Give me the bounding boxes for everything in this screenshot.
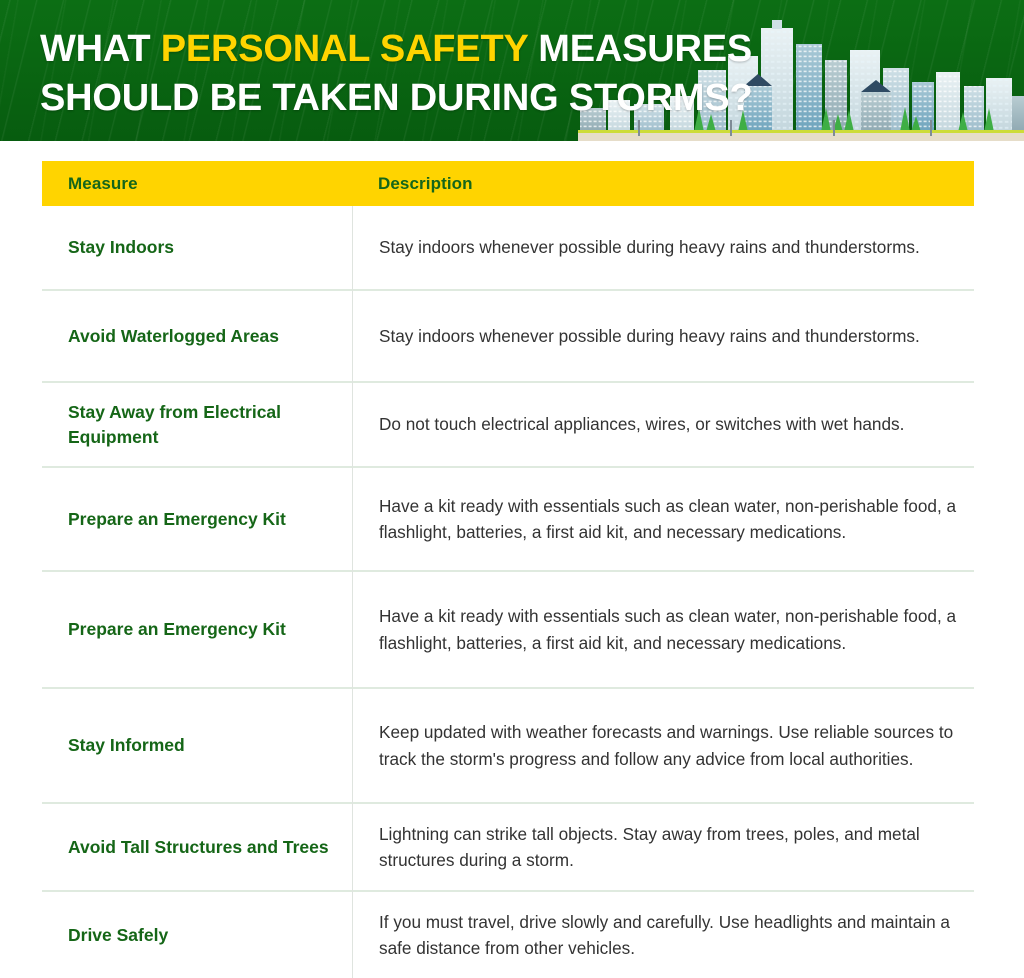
title-text-pre: WHAT — [40, 28, 161, 70]
table-body: Stay Indoors Stay indoors whenever possi… — [42, 206, 974, 978]
cell-measure: Prepare an Emergency Kit — [42, 617, 352, 642]
column-header-description: Description — [352, 174, 473, 194]
cell-description: Do not touch electrical appliances, wire… — [352, 411, 974, 438]
cell-description: Stay indoors whenever possible during he… — [352, 323, 974, 350]
cell-measure: Drive Safely — [42, 923, 352, 948]
title-text-accent: PERSONAL SAFETY — [161, 28, 528, 70]
cell-description: Have a kit ready with essentials such as… — [352, 493, 974, 546]
table-row: Stay Indoors Stay indoors whenever possi… — [42, 206, 974, 291]
table-row: Stay Away from Electrical Equipment Do n… — [42, 383, 974, 468]
table-header-row: Measure Description — [42, 161, 974, 206]
cell-measure: Avoid Tall Structures and Trees — [42, 835, 352, 860]
page-title-line-1: WHAT PERSONAL SAFETY MEASURES — [40, 25, 753, 74]
cell-measure: Stay Informed — [42, 733, 352, 758]
cell-measure: Stay Away from Electrical Equipment — [42, 400, 352, 450]
cell-description: Have a kit ready with essentials such as… — [352, 603, 974, 656]
table-row: Avoid Waterlogged Areas Stay indoors whe… — [42, 291, 974, 383]
table-row: Prepare an Emergency Kit Have a kit read… — [42, 468, 974, 572]
table-row: Avoid Tall Structures and Trees Lightnin… — [42, 804, 974, 892]
cell-description: Keep updated with weather forecasts and … — [352, 719, 974, 772]
table-row: Drive Safely If you must travel, drive s… — [42, 892, 974, 978]
column-divider — [352, 206, 353, 978]
cell-measure: Stay Indoors — [42, 235, 352, 260]
page-title: WHAT PERSONAL SAFETY MEASURES SHOULD BE … — [40, 25, 753, 123]
table-row: Stay Informed Keep updated with weather … — [42, 689, 974, 804]
cell-measure: Prepare an Emergency Kit — [42, 507, 352, 532]
cell-description: If you must travel, drive slowly and car… — [352, 909, 974, 962]
table-row: Prepare an Emergency Kit Have a kit read… — [42, 572, 974, 689]
column-header-measure: Measure — [42, 174, 352, 194]
cell-measure: Avoid Waterlogged Areas — [42, 324, 352, 349]
header-banner: WHAT PERSONAL SAFETY MEASURES SHOULD BE … — [0, 0, 1024, 141]
title-text-post: MEASURES — [528, 28, 752, 70]
cell-description: Stay indoors whenever possible during he… — [352, 234, 974, 261]
page-title-line-2: SHOULD BE TAKEN DURING STORMS? — [40, 74, 753, 123]
cell-description: Lightning can strike tall objects. Stay … — [352, 821, 974, 874]
measures-table: Measure Description Stay Indoors Stay in… — [42, 161, 974, 978]
